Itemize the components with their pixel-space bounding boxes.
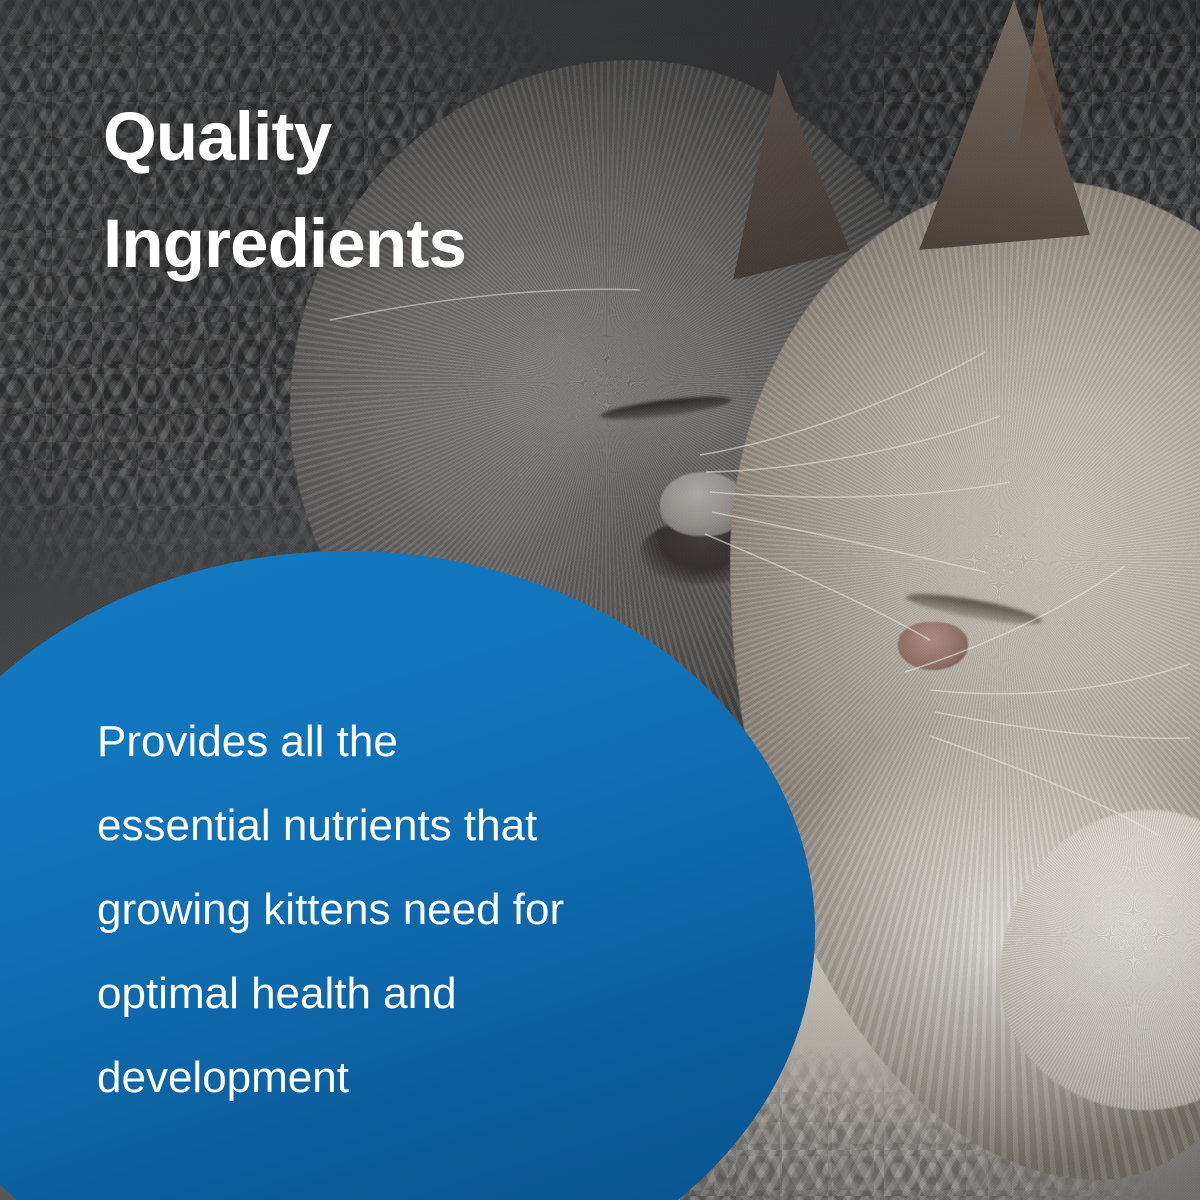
body-copy-line-2: essential nutrients that bbox=[97, 784, 737, 868]
body-copy-line-1: Provides all the bbox=[97, 700, 737, 784]
body-copy-line-4: optimal health and bbox=[97, 952, 737, 1036]
body-copy: Provides all the essential nutrients tha… bbox=[97, 700, 737, 1120]
promo-card: Quality Ingredients Provides all the ess… bbox=[0, 0, 1200, 1200]
body-copy-line-3: growing kittens need for bbox=[97, 868, 737, 952]
body-copy-line-5: development bbox=[97, 1036, 737, 1120]
headline-line-2: Ingredients bbox=[103, 190, 743, 297]
page-title: Quality Ingredients bbox=[103, 83, 743, 297]
headline-line-1: Quality bbox=[103, 83, 743, 190]
